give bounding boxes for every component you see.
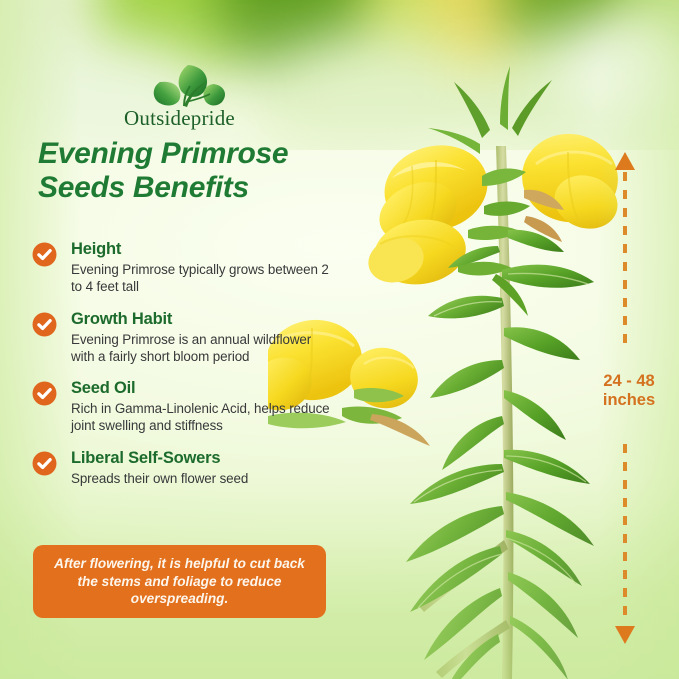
infographic-canvas: Outsidepride Evening Primrose Seeds Bene… (0, 0, 679, 679)
check-circle-icon (32, 381, 57, 406)
benefit-title: Growth Habit (71, 310, 332, 329)
check-circle-icon (32, 451, 57, 476)
benefit-item-growth-habit: Growth Habit Evening Primrose is an annu… (32, 310, 332, 366)
measurement-label: 24 - 48 inches (583, 372, 675, 410)
callout-box: After flowering, it is helpful to cut ba… (33, 545, 326, 618)
page-title: Evening Primrose Seeds Benefits (38, 137, 338, 205)
measurement-unit: inches (603, 391, 655, 409)
leaf-sprig-icon (130, 62, 230, 108)
measurement-value: 24 - 48 (603, 372, 654, 390)
benefit-title: Height (71, 240, 332, 259)
headline-line-2: Seeds Benefits (38, 171, 249, 204)
benefit-title: Liberal Self-Sowers (71, 449, 332, 468)
benefit-description: Spreads their own flower seed (71, 470, 332, 487)
benefit-description: Evening Primrose typically grows between… (71, 261, 332, 295)
benefit-item-seed-oil: Seed Oil Rich in Gamma-Linolenic Acid, h… (32, 379, 332, 435)
benefit-item-liberal-self-sowers: Liberal Self-Sowers Spreads their own fl… (32, 449, 332, 487)
check-circle-icon (32, 242, 57, 267)
benefit-description: Evening Primrose is an annual wildflower… (71, 331, 332, 365)
benefit-item-height: Height Evening Primrose typically grows … (32, 240, 332, 296)
benefit-title: Seed Oil (71, 379, 332, 398)
callout-text: After flowering, it is helpful to cut ba… (49, 555, 310, 609)
brand-logo: Outsidepride (112, 62, 247, 131)
check-circle-icon (32, 312, 57, 337)
benefits-list: Height Evening Primrose typically grows … (32, 240, 332, 501)
arrow-up-icon (615, 152, 635, 170)
headline-line-1: Evening Primrose (38, 137, 288, 170)
brand-name: Outsidepride (112, 106, 247, 131)
arrow-down-icon (615, 626, 635, 644)
benefit-description: Rich in Gamma-Linolenic Acid, helps redu… (71, 400, 332, 434)
